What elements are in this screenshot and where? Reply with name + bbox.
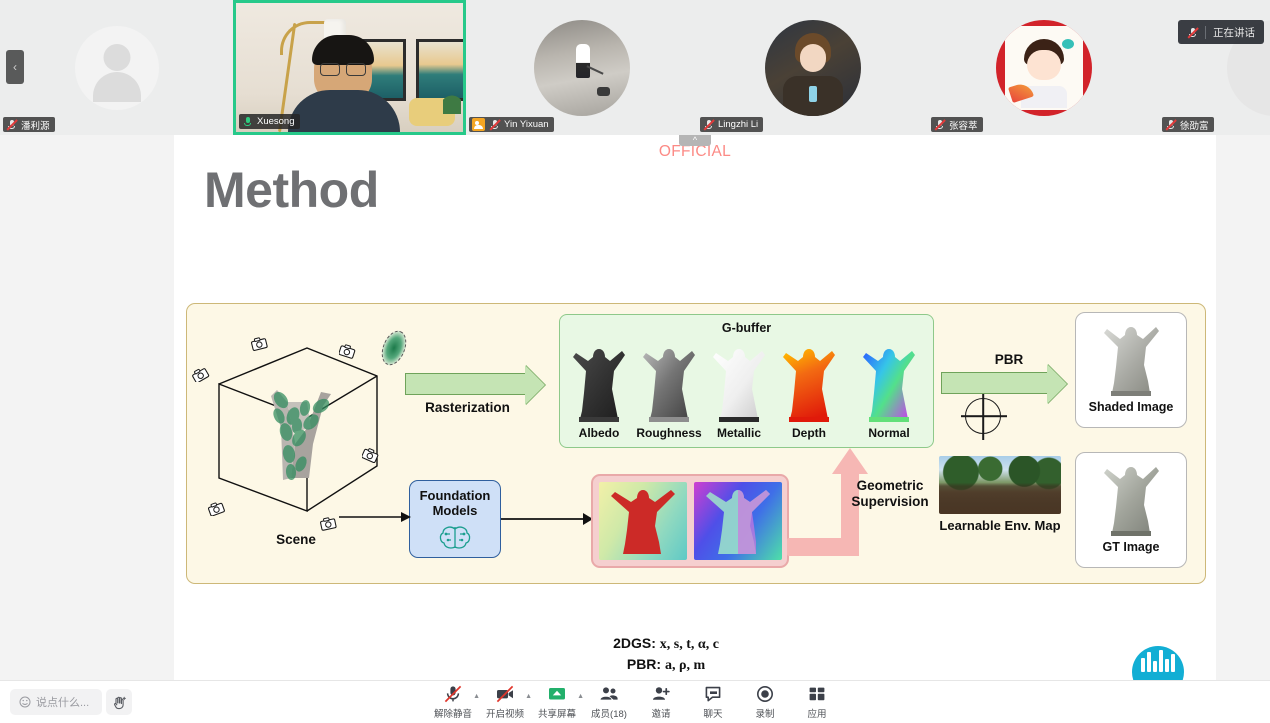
smiley-icon [19,696,31,708]
invite-icon [651,684,671,704]
speaking-status-label: 正在讲话 [1213,25,1255,40]
participant-video-strip: 潘利源 Xuesong Yin Yixuan [0,0,1270,135]
foundation-models-line1: Foundation [420,489,491,504]
participant-tile-4[interactable]: Lingzhi Li [697,0,928,135]
video-feed [236,3,463,132]
foundation-to-supervision-arrow [501,513,593,525]
gbuffer-panel: G-buffer Albedo [559,314,934,448]
scene-label: Scene [231,532,361,547]
geometric-supervision-line1: Geometric [825,478,955,494]
gbuffer-channel-metallic: Metallic [706,337,772,440]
quick-chat-input[interactable]: 说点什么... [10,689,102,715]
splat-pbr-params: a, ρ, m [665,658,705,673]
participant-name-tag: Yin Yixuan [469,117,554,132]
participant-name: 徐劭富 [1180,118,1209,132]
splat-parameters-label: 2DGS: x, s, t, α, c PBR: a, ρ, m [591,634,741,676]
participant-name-tag: 潘利源 [3,117,55,132]
toolbar-label: 录制 [755,706,774,720]
learnable-env-map-label: Learnable Env. Map [925,518,1075,533]
avatar [75,26,159,110]
participant-name-tag: 张容萃 [931,117,983,132]
presentation-slide: ^ OFFICIAL Method [174,135,1216,680]
participant-name-tag: Xuesong [239,114,300,129]
participant-name-tag: 徐劭富 [1162,117,1214,132]
toolbar-label: 聊天 [703,706,722,720]
toolbar-label: 解除静音 [434,706,472,720]
toolbar-invite-button[interactable]: 邀请 [635,684,687,720]
raise-hand-button[interactable] [106,689,132,715]
participant-tile-5[interactable]: 张容萃 [928,0,1159,135]
toolbar-label: 邀请 [651,706,670,720]
record-icon [755,684,775,704]
gbuffer-channel-depth: Depth [776,337,842,440]
splat-pbr-prefix: PBR: [627,656,661,672]
depth-image [780,337,838,425]
participants-icon [599,684,619,704]
participant-name: Lingzhi Li [718,119,758,130]
camera-icon [208,501,226,516]
camera-icon [339,344,357,359]
method-pipeline-figure: Scene 2DGS: x, s, t, α, c PBR: a, ρ, m R… [186,303,1206,584]
toolbar-label: 开启视频 [486,706,524,720]
gbuffer-title: G-buffer [560,321,933,335]
camera-icon [251,336,269,351]
gbuffer-channel-normal: Normal [856,337,922,440]
meeting-toolbar: 说点什么... [0,680,1270,723]
avatar [534,20,630,116]
mic-muted-icon [934,119,945,130]
chevron-left-icon: ‹ [13,60,17,74]
camera-off-icon [495,684,515,704]
apps-icon [807,684,827,704]
shaded-image-label: Shaded Image [1089,400,1174,414]
mic-muted-icon [6,119,17,130]
toolbar-start-video-button[interactable]: 开启视频 ▲ [479,684,531,720]
albedo-image [570,337,628,425]
camera-icon [362,448,380,463]
toolbar-label: 共享屏幕 [538,706,576,720]
toolbar-record-button[interactable]: 录制 [739,684,791,720]
mic-muted-icon [443,684,463,704]
strip-scroll-left-button[interactable]: ‹ [6,50,24,84]
gt-image-card: GT Image [1075,452,1187,568]
page-title: Method [204,161,379,219]
participant-name-tag: Lingzhi Li [700,117,763,132]
geometric-supervision-line2: Supervision [825,494,955,510]
toolbar-share-screen-button[interactable]: 共享屏幕 ▲ [531,684,583,720]
pbr-arrow [941,372,1049,394]
normal-image [860,337,918,425]
gt-image-label: GT Image [1103,540,1160,554]
participant-tile-2-active-speaker[interactable]: Xuesong [233,0,466,135]
avatar [996,20,1092,116]
speaking-status-badge: 正在讲话 [1178,20,1264,44]
collapse-toolbar-button[interactable]: ^ [679,135,711,146]
plus-circle-icon [965,398,1001,434]
toolbar-actions: 解除静音 ▲ 开启视频 ▲ [427,684,843,720]
participant-name: Xuesong [257,116,295,127]
shaded-statue-image [1099,319,1163,399]
splat-2dgs-prefix: 2DGS: [613,635,656,651]
metallic-image [710,337,768,425]
quick-chat-placeholder: 说点什么... [36,694,89,710]
gbuffer-channel-label: Albedo [566,426,632,440]
gbuffer-channel-label: Depth [776,426,842,440]
gbuffer-channel-label: Metallic [706,426,772,440]
brand-logo [1132,646,1184,680]
toolbar-unmute-button[interactable]: 解除静音 ▲ [427,684,479,720]
toolbar-label: 应用 [807,706,826,720]
geometric-supervision-label: Geometric Supervision [825,478,955,510]
raise-hand-icon [112,695,127,710]
rasterization-label: Rasterization [395,400,540,415]
mic-muted-icon [1187,27,1198,38]
shared-screen-stage: ^ OFFICIAL Method [0,135,1270,680]
mic-muted-icon [1165,119,1176,130]
toolbar-apps-button[interactable]: 应用 [791,684,843,720]
camera-off-icon [472,118,485,131]
gaussian-splat-scene-icon [261,372,339,484]
pseudo-depth-image [599,482,687,560]
toolbar-participants-button[interactable]: 成员(18) [583,684,635,720]
shaded-image-card: Shaded Image [1075,312,1187,428]
toolbar-chat-button[interactable]: 聊天 [687,684,739,720]
avatar [765,20,861,116]
pseudo-normal-image [694,482,782,560]
mic-muted-icon [489,119,500,130]
camera-icon [192,367,210,382]
chat-icon [703,684,723,704]
camera-icon [320,516,338,531]
participant-name: Yin Yixuan [504,119,549,130]
gbuffer-channel-albedo: Albedo [566,337,632,440]
mic-on-icon [242,116,253,127]
meeting-app-window: 潘利源 Xuesong Yin Yixuan [0,0,1270,723]
pseudo-supervision-images [591,474,789,568]
participant-name: 张容萃 [949,118,978,132]
participant-tile-3[interactable]: Yin Yixuan [466,0,697,135]
gt-statue-image [1099,459,1163,539]
camera-to-foundation-arrow [339,511,411,523]
pbr-label: PBR [969,352,1049,367]
roughness-image [640,337,698,425]
brain-chip-icon [438,523,472,551]
gbuffer-channel-roughness: Roughness [636,337,702,440]
gbuffer-channel-label: Roughness [636,426,702,440]
mic-muted-icon [703,119,714,130]
learnable-env-map-image [939,456,1061,514]
rasterization-arrow [405,373,527,395]
foundation-models-box: Foundation Models [409,480,501,558]
participant-name: 潘利源 [21,118,50,132]
share-screen-icon [547,684,567,704]
foundation-models-line2: Models [433,504,478,519]
scene-cube [207,326,397,526]
participant-tile-1[interactable]: 潘利源 [0,0,233,135]
toolbar-label: 成员(18) [591,706,627,720]
gbuffer-channel-label: Normal [856,426,922,440]
splat-2dgs-params: x, s, t, α, c [660,637,719,652]
